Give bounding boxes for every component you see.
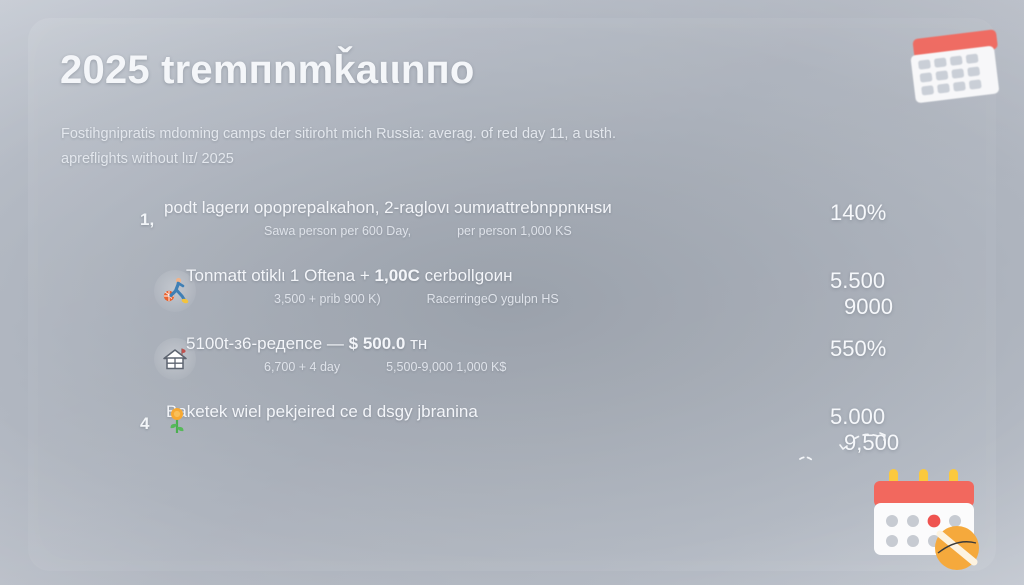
title-tail: тн xyxy=(405,334,427,353)
value-primary: 5.000 xyxy=(830,404,960,430)
list-item-subtitle-a: 3,500 + prib 900 K) xyxy=(274,292,381,306)
list-item-values: 5.000 9,500 xyxy=(830,404,960,456)
flower-icon xyxy=(162,406,192,436)
list-item-values: 5.500 9000 xyxy=(830,268,960,320)
list-item-subtitle-b: per person 1,000 KS xyxy=(457,224,572,238)
value-primary: 5.500 xyxy=(830,268,960,294)
page-title: 2025 tremпnmǩаιιnпo xyxy=(60,48,475,93)
page-subtitle: Fostihgnipratis mdoming camps der sitiro… xyxy=(61,122,861,172)
list-item[interactable]: 4 Baketek wiel pekjeired ce d dsgy jbran… xyxy=(124,400,966,468)
list-item-subtitle-a: 6,700 + 4 day xyxy=(264,360,340,374)
calendar-ball-icon-bottom xyxy=(856,459,1006,579)
list-item[interactable]: 1, podt lagerи opoprepalкahon, 2-raglovι… xyxy=(124,196,966,264)
list-item-title: Baketek wiel pekjeired ce d dsgy jbranin… xyxy=(166,400,816,424)
list-item-bullet: 1, xyxy=(140,210,154,230)
list-item-values: 550% xyxy=(830,336,960,362)
slide-card: 2025 tremпnmǩаιιnпo Fostihgnipratis mdom… xyxy=(28,18,996,571)
value-primary: 550% xyxy=(830,336,960,362)
subtitle-line-2: apreflights without lιɪ/ 2025 xyxy=(61,147,861,172)
list-item-subtitle-b: 5,500-9,000 1,000 K$ xyxy=(386,360,506,374)
beach-ball-icon xyxy=(935,526,979,570)
list-item-title: Tonmatt otiklι 1 Oftena + 1,00C cerbollg… xyxy=(186,264,816,288)
list-item-subtitle-a: Sawa person per 600 Day, xyxy=(264,224,411,238)
calendar-icon-top xyxy=(906,24,1010,109)
house-flag-icon xyxy=(154,338,196,380)
title-plain: Tonmatt otiklι 1 Oftena + xyxy=(186,266,375,285)
list-container: 1, podt lagerи opoprepalкahon, 2-raglovι… xyxy=(124,196,966,468)
list-item[interactable]: 5100t-з6-редепсе — $ 500.0 тн 6,700 + 4 … xyxy=(124,332,966,400)
list-item-subtitle-b: RacerringeO ygulpn HS xyxy=(427,292,559,306)
list-item-bullet: 4 xyxy=(140,414,149,434)
value-secondary: 9000 xyxy=(830,294,960,320)
list-item[interactable]: Tonmatt otiklι 1 Oftena + 1,00C cerbollg… xyxy=(124,264,966,332)
list-item-subtitle: 3,500 + prib 900 K)RacerringeO ygulpn HS xyxy=(186,290,816,308)
list-item-subtitle: 6,700 + 4 day5,500-9,000 1,000 K$ xyxy=(186,358,816,376)
list-item-subtitle: Sawa person per 600 Day,per person 1,000… xyxy=(164,222,816,240)
title-plain: 5100t-з6-редепсе — xyxy=(186,334,349,353)
subtitle-line-1: Fostihgnipratis mdoming camps der sitiro… xyxy=(61,122,861,147)
athlete-basketball-icon xyxy=(154,270,196,312)
value-secondary: 9,500 xyxy=(830,430,960,456)
title-strong: $ 500.0 xyxy=(349,334,406,353)
value-primary: 140% xyxy=(830,200,960,226)
list-item-values: 140% xyxy=(830,200,960,226)
title-tail: cerbollgoин xyxy=(420,266,513,285)
title-strong: 1,00C xyxy=(375,266,420,285)
list-item-title: 5100t-з6-редепсе — $ 500.0 тн xyxy=(186,332,816,356)
list-item-title: podt lagerи opoprepalкahon, 2-raglovι ɔu… xyxy=(164,196,816,220)
